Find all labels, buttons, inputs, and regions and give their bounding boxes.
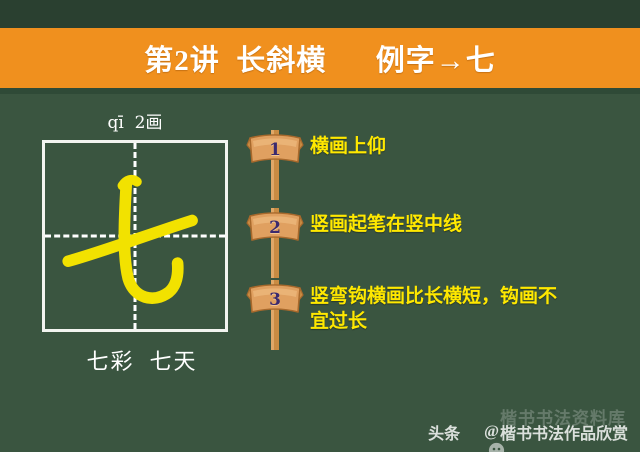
character-glyph-qi <box>45 143 225 329</box>
tip-number: 2 <box>246 218 304 238</box>
tip-item: 3 竖弯钩横画比长横短，钩画不 宜过长 <box>246 276 638 346</box>
character-grid-box <box>42 140 228 332</box>
toutiao-logo-icon <box>464 424 481 441</box>
tip-item: 1 横画上仰 <box>246 126 638 204</box>
page-title: 第2讲 长斜横 例字→七 <box>144 37 496 79</box>
title-banner: 第2讲 长斜横 例字→七 <box>0 28 640 88</box>
watermark-at-symbol: @ <box>484 423 499 441</box>
top-band <box>0 0 640 28</box>
watermark-source: 头条 <box>428 420 460 444</box>
pinyin-label: qī 2画 <box>42 108 228 133</box>
signpost-icon: 2 <box>246 204 304 282</box>
tips-list: 1 横画上仰 2 竖画起笔在竖中线 <box>246 126 638 346</box>
tip-number: 3 <box>246 290 304 310</box>
watermark-account-name: 楷书书法作品欣赏 <box>500 420 628 444</box>
tip-text: 竖弯钩横画比长横短，钩画不 宜过长 <box>310 276 557 334</box>
tip-text: 竖画起笔在竖中线 <box>310 204 462 237</box>
example-words-caption: 七彩 七天 <box>42 344 242 376</box>
signpost-icon: 1 <box>246 126 304 204</box>
slide-root: 第2讲 长斜横 例字→七 qī 2画 七彩 七天 <box>0 0 640 452</box>
tip-number: 1 <box>246 140 304 160</box>
signpost-icon: 3 <box>246 276 304 354</box>
watermark-account: 头条 @ 楷书书法作品欣赏 <box>428 420 628 444</box>
tip-text: 横画上仰 <box>310 126 386 159</box>
tip-item: 2 竖画起笔在竖中线 <box>246 204 638 276</box>
banner-underline <box>0 88 640 94</box>
